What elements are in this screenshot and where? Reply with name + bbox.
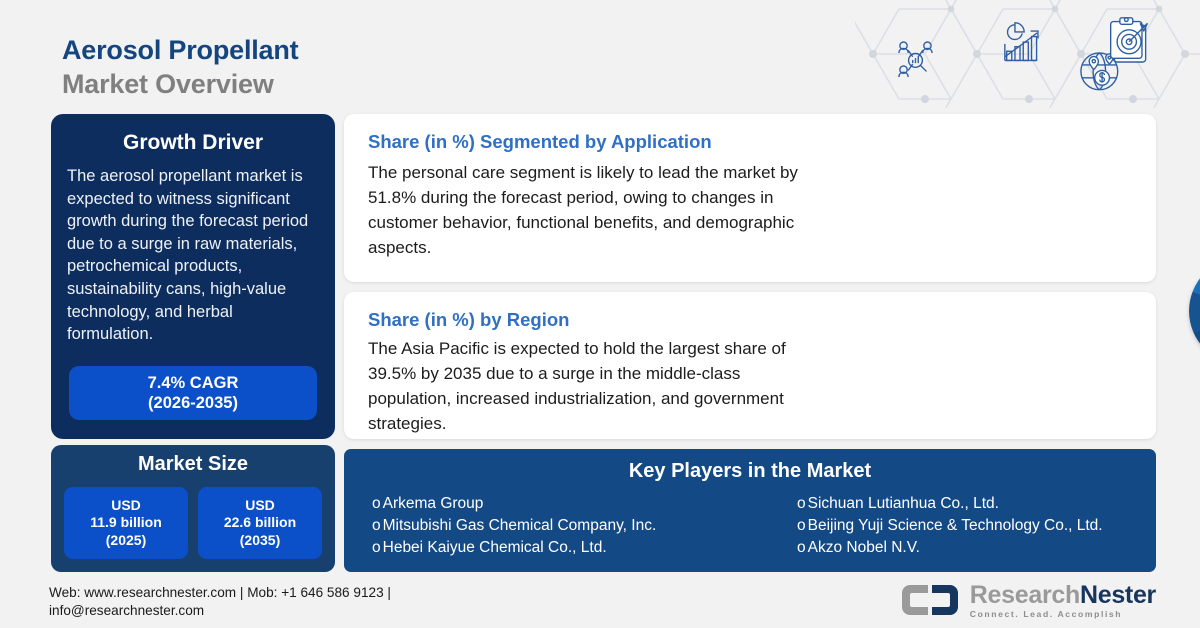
key-player-name: Sichuan Lutianhua Co., Ltd. (808, 493, 999, 515)
key-player-item: o Hebei Kaiyue Chemical Co., Ltd. (372, 537, 757, 559)
market-size-currency: USD (245, 497, 275, 515)
cagr-period: (2026-2035) (148, 393, 238, 413)
key-players-column-left: oArkema GroupoMitsubishi Gas Chemical Co… (372, 493, 757, 559)
bullet-icon: o (372, 537, 381, 559)
application-share-card: Share (in %) Segmented by Application Th… (344, 114, 1156, 282)
market-size-title: Market Size (51, 453, 335, 476)
chart-growth-icon (1005, 23, 1038, 61)
key-player-item: oArkema Group (372, 493, 757, 515)
key-players-columns: oArkema GroupoMitsubishi Gas Chemical Co… (372, 493, 1142, 559)
key-players-title: Key Players in the Market (344, 460, 1156, 483)
key-player-name: Arkema Group (383, 493, 484, 515)
title-secondary: Market Overview (62, 67, 298, 101)
key-player-name: Akzo Nobel N.V. (808, 537, 920, 559)
region-card-heading: Share (in %) by Region (368, 309, 569, 331)
application-card-heading: Share (in %) Segmented by Application (368, 131, 712, 153)
footer-contact: Web: www.researchnester.com | Mob: +1 64… (49, 584, 609, 620)
market-size-card: USD 22.6 billion (2035) (198, 487, 322, 559)
footer-contact-line1: Web: www.researchnester.com | Mob: +1 64… (49, 584, 609, 602)
growth-driver-body: The aerosol propellant market is expecte… (67, 165, 319, 346)
cagr-badge: 7.4% CAGR (2026-2035) (69, 366, 317, 420)
bullet-icon: o (797, 515, 806, 537)
people-network-search-icon (899, 42, 932, 77)
page-title: Aerosol Propellant Market Overview (62, 33, 298, 101)
title-primary: Aerosol Propellant (62, 33, 298, 67)
application-card-text: The personal care segment is likely to l… (368, 160, 808, 260)
logo-wordmark: ResearchNester Connect. Lead. Accomplish (970, 582, 1156, 619)
logo-name-row: ResearchNester (970, 582, 1156, 608)
clipboard-target-icon (1111, 18, 1148, 62)
infographic-page: Aerosol Propellant Market Overview (0, 0, 1200, 628)
key-player-item: oSichuan Lutianhua Co., Ltd. (797, 493, 1142, 515)
bullet-icon: o (372, 493, 381, 515)
interlocking-brackets-logo-icon (900, 583, 962, 617)
market-size-currency: USD (111, 497, 141, 515)
market-size-year: (2035) (240, 532, 280, 550)
market-size-card: USD 11.9 billion (2025) (64, 487, 188, 559)
key-player-item: oBeijing Yuji Science & Technology Co., … (797, 515, 1142, 537)
hexagon-decoration (855, 0, 1200, 108)
market-size-cards: USD 11.9 billion (2025) USD 22.6 billion… (64, 487, 322, 559)
bullet-icon: o (797, 493, 806, 515)
logo-nester-word: Nester (1080, 581, 1156, 609)
key-player-name: Hebei Kaiyue Chemical Co., Ltd. (383, 537, 607, 559)
market-size-panel: Market Size USD 11.9 billion (2025) USD … (51, 445, 335, 572)
growth-driver-panel: Growth Driver The aerosol propellant mar… (51, 114, 335, 439)
key-player-name: Beijing Yuji Science & Technology Co., L… (808, 515, 1103, 537)
logo-tagline: Connect. Lead. Accomplish (970, 609, 1156, 619)
bullet-icon: o (797, 537, 806, 559)
growth-driver-title: Growth Driver (51, 131, 335, 155)
region-card-text: The Asia Pacific is expected to hold the… (368, 336, 808, 436)
market-size-amount: 22.6 billion (224, 514, 296, 532)
key-player-name: Mitsubishi Gas Chemical Company, Inc. (383, 515, 657, 537)
region-pie-chart (1195, 619, 1200, 628)
region-share-card: Share (in %) by Region The Asia Pacific … (344, 292, 1156, 439)
research-nester-logo: ResearchNester Connect. Lead. Accomplish (900, 578, 1156, 622)
application-pie-chart (1189, 257, 1200, 365)
key-player-item: oAkzo Nobel N.V. (797, 537, 1142, 559)
cagr-value: 7.4% CAGR (148, 373, 239, 393)
market-size-year: (2025) (106, 532, 146, 550)
header: Aerosol Propellant Market Overview (0, 0, 1200, 108)
key-players-column-right: oSichuan Lutianhua Co., Ltd.oBeijing Yuj… (757, 493, 1142, 559)
footer-contact-line2: info@researchnester.com (49, 602, 609, 620)
market-size-amount: 11.9 billion (90, 514, 162, 532)
key-player-item: oMitsubishi Gas Chemical Company, Inc. (372, 515, 757, 537)
bullet-icon: o (372, 515, 381, 537)
key-players-panel: Key Players in the Market oArkema Groupo… (344, 449, 1156, 572)
logo-research-word: Research (970, 581, 1080, 609)
